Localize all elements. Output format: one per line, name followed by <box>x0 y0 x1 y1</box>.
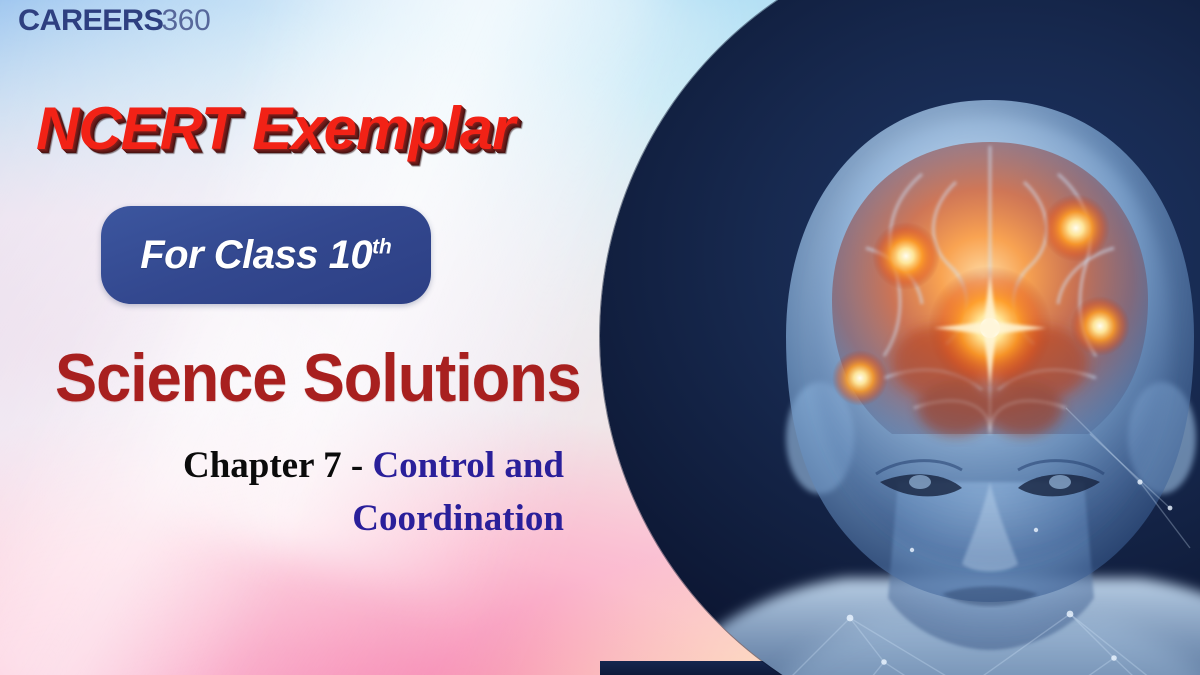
class-badge-ordinal-suffix: th <box>372 235 392 258</box>
class-badge-label: For Class 10th <box>140 233 392 278</box>
chapter-heading: Chapter 7 - Control and Coordination <box>64 440 564 545</box>
logo-360-text: 360 <box>162 6 211 36</box>
brain <box>832 142 1148 436</box>
chapter-title-label: Control and Coordination <box>352 445 564 539</box>
poster-canvas: Image Source: Freepik CAREERS 360 NCERT … <box>0 0 1200 675</box>
class-badge-prefix: For Class 10 <box>140 233 372 277</box>
subject-heading: Science Solutions <box>55 344 581 412</box>
careers360-logo[interactable]: CAREERS 360 <box>18 6 210 36</box>
class-badge: For Class 10th <box>101 206 431 304</box>
chapter-number-label: Chapter 7 - <box>183 445 372 486</box>
brain-image-panel: Image Source: Freepik <box>600 0 1200 675</box>
logo-careers-text: CAREERS <box>18 6 163 36</box>
page-title: NCERT Exemplar <box>36 98 556 160</box>
brain-artwork <box>670 78 1200 675</box>
